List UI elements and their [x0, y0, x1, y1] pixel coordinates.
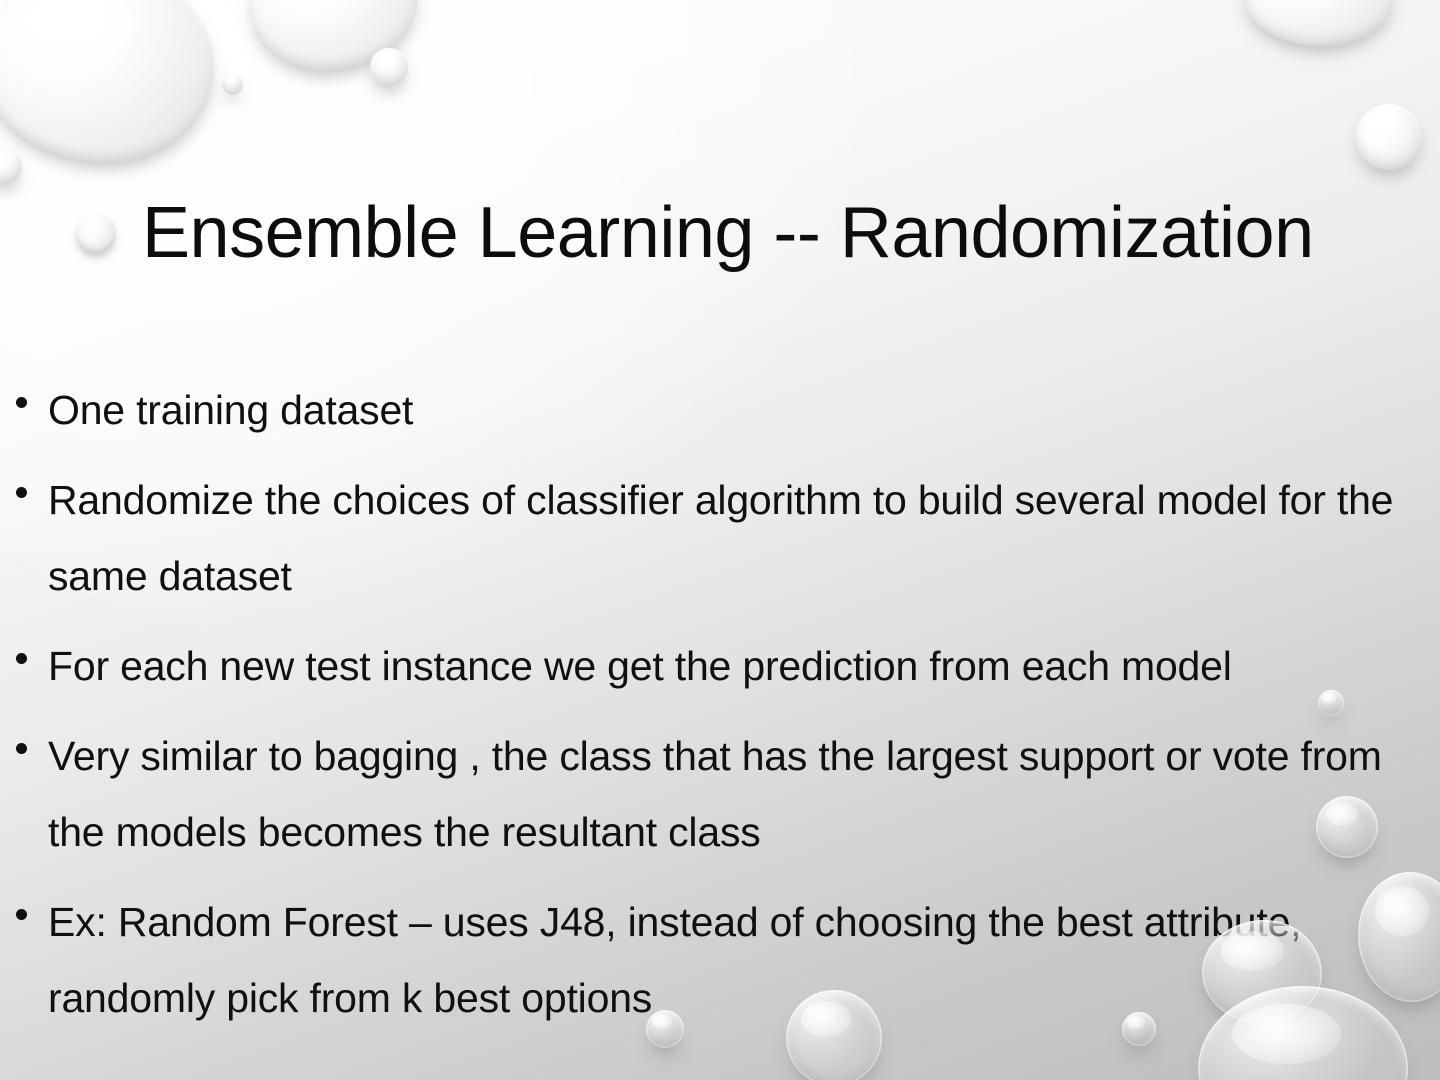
- list-item-label: Randomize the choices of classifier algo…: [48, 462, 1418, 614]
- list-item: Randomize the choices of classifier algo…: [0, 462, 1440, 614]
- water-droplet-icon: [1356, 104, 1422, 170]
- list-item: One training dataset: [0, 372, 1440, 448]
- list-item-label: For each new test instance we get the pr…: [48, 628, 1232, 704]
- bullet-dot-icon: [16, 487, 27, 498]
- water-droplet-icon: [370, 48, 408, 86]
- list-item: Ex: Random Forest – uses J48, instead of…: [0, 884, 1440, 1036]
- bubble-marker-icon: [76, 213, 116, 253]
- list-item: For each new test instance we get the pr…: [0, 628, 1440, 704]
- list-item-label: Ex: Random Forest – uses J48, instead of…: [48, 884, 1418, 1036]
- water-droplet-icon: [1244, 0, 1394, 46]
- list-item-label: One training dataset: [48, 372, 413, 448]
- slide-title-row: Ensemble Learning -- Randomization: [0, 178, 1440, 288]
- page-title: Ensemble Learning -- Randomization: [142, 197, 1314, 269]
- presentation-slide: Ensemble Learning -- Randomization One t…: [0, 0, 1440, 1080]
- bullet-dot-icon: [16, 653, 27, 664]
- water-droplet-icon: [0, 0, 214, 162]
- slide-body: One training dataset Randomize the choic…: [0, 372, 1440, 1050]
- bullet-dot-icon: [16, 743, 27, 754]
- list-item: Very similar to bagging , the class that…: [0, 718, 1440, 870]
- water-droplet-icon: [222, 74, 243, 95]
- bullet-dot-icon: [16, 397, 27, 408]
- list-item-label: Very similar to bagging , the class that…: [48, 718, 1418, 870]
- bullet-dot-icon: [16, 909, 27, 920]
- water-droplet-icon: [250, 0, 418, 70]
